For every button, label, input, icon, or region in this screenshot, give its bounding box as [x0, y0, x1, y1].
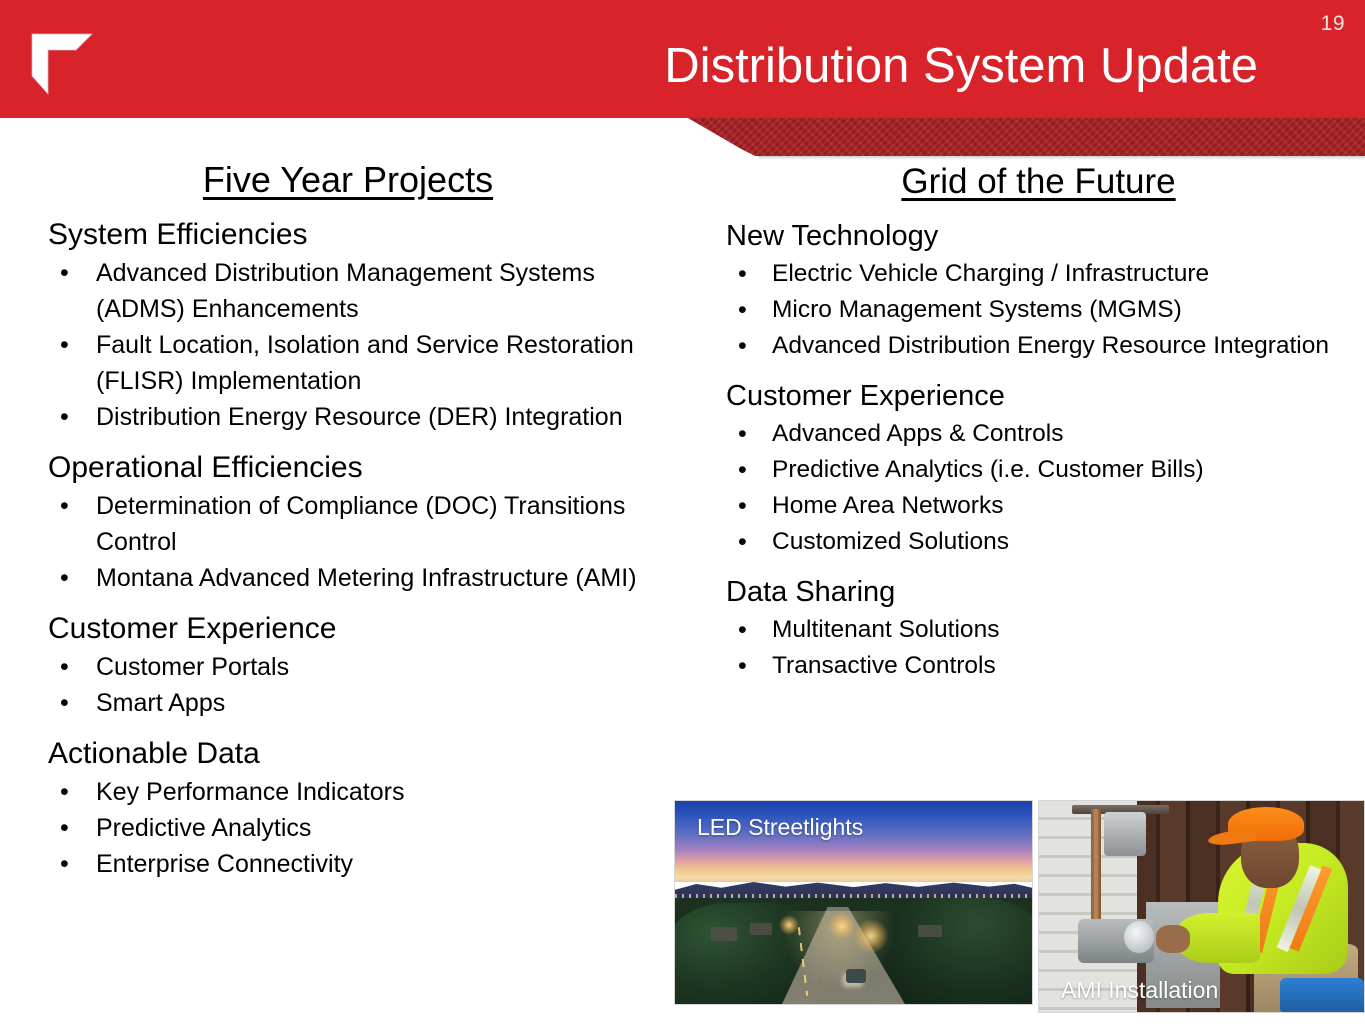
- house: [750, 923, 772, 935]
- list-item: Predictive Analytics (i.e. Customer Bill…: [726, 452, 1351, 488]
- group-new-technology: New Technology Electric Vehicle Charging…: [726, 218, 1351, 364]
- list-item: Advanced Distribution Energy Resource In…: [726, 328, 1351, 364]
- list-item: Predictive Analytics: [48, 810, 648, 846]
- slide-number: 19: [1321, 12, 1345, 36]
- meter-box: [1104, 812, 1146, 856]
- list-item: Transactive Controls: [726, 648, 1351, 684]
- group-system-efficiencies: System Efficiencies Advanced Distributio…: [48, 216, 648, 435]
- streetlight-glow: [779, 915, 799, 935]
- list-item: Smart Apps: [48, 685, 648, 721]
- bullet-list: Multitenant Solutions Transactive Contro…: [726, 612, 1351, 684]
- list-item: Fault Location, Isolation and Service Re…: [48, 327, 648, 399]
- list-item: Micro Management Systems (MGMS): [726, 292, 1351, 328]
- streetlight-glow: [854, 919, 888, 953]
- list-item: Home Area Networks: [726, 488, 1351, 524]
- group-title: New Technology: [726, 218, 1351, 255]
- house: [918, 925, 942, 937]
- group-data-sharing: Data Sharing Multitenant Solutions Trans…: [726, 574, 1351, 684]
- group-customer-experience: Customer Experience Customer Portals Sma…: [48, 610, 648, 721]
- group-title: Customer Experience: [726, 378, 1351, 415]
- copper-pipe: [1091, 809, 1101, 927]
- list-item: Electric Vehicle Charging / Infrastructu…: [726, 256, 1351, 292]
- list-item: Multitenant Solutions: [726, 612, 1351, 648]
- header-diagonal-band: [0, 118, 1365, 160]
- photo-caption-ami: AMI Installation: [1061, 976, 1218, 1004]
- right-column-heading: Grid of the Future: [726, 160, 1351, 204]
- bullet-list: Customer Portals Smart Apps: [48, 649, 648, 721]
- photo-ami-installation: AMI Installation: [1038, 800, 1365, 1013]
- group-title: Data Sharing: [726, 574, 1351, 611]
- blue-bucket: [1280, 978, 1365, 1012]
- meter-dial: [1124, 921, 1154, 953]
- group-title: System Efficiencies: [48, 216, 648, 254]
- list-item: Customized Solutions: [726, 524, 1351, 560]
- group-title: Operational Efficiencies: [48, 449, 648, 487]
- list-item: Distribution Energy Resource (DER) Integ…: [48, 399, 648, 435]
- left-column: Five Year Projects System Efficiencies A…: [48, 158, 648, 882]
- house: [711, 927, 737, 941]
- worker-hand: [1156, 925, 1190, 953]
- group-title: Actionable Data: [48, 735, 648, 773]
- right-column: Grid of the Future New Technology Electr…: [726, 160, 1351, 684]
- bullet-list: Electric Vehicle Charging / Infrastructu…: [726, 256, 1351, 364]
- group-title: Customer Experience: [48, 610, 648, 648]
- photo-led-streetlights: LED Streetlights: [674, 800, 1033, 1005]
- left-column-heading: Five Year Projects: [48, 158, 648, 202]
- bullet-list: Advanced Apps & Controls Predictive Anal…: [726, 416, 1351, 560]
- trees-right: [875, 898, 1033, 1004]
- bullet-list: Key Performance Indicators Predictive An…: [48, 774, 648, 882]
- group-operational-efficiencies: Operational Efficiencies Determination o…: [48, 449, 648, 596]
- list-item: Montana Advanced Metering Infrastructure…: [48, 560, 648, 596]
- slide-header: Distribution System Update 19: [0, 0, 1365, 118]
- group-actionable-data: Actionable Data Key Performance Indicato…: [48, 735, 648, 882]
- list-item: Customer Portals: [48, 649, 648, 685]
- group-customer-experience-right: Customer Experience Advanced Apps & Cont…: [726, 378, 1351, 560]
- page-title: Distribution System Update: [0, 38, 1258, 94]
- list-item: Enterprise Connectivity: [48, 846, 648, 882]
- list-item: Advanced Distribution Management Systems…: [48, 255, 648, 327]
- list-item: Determination of Compliance (DOC) Transi…: [48, 488, 648, 560]
- bullet-list: Determination of Compliance (DOC) Transi…: [48, 488, 648, 596]
- streetlight-glow: [829, 913, 855, 939]
- car: [846, 969, 866, 983]
- list-item: Advanced Apps & Controls: [726, 416, 1351, 452]
- photo-caption-led: LED Streetlights: [697, 813, 863, 841]
- bullet-list: Advanced Distribution Management Systems…: [48, 255, 648, 435]
- list-item: Key Performance Indicators: [48, 774, 648, 810]
